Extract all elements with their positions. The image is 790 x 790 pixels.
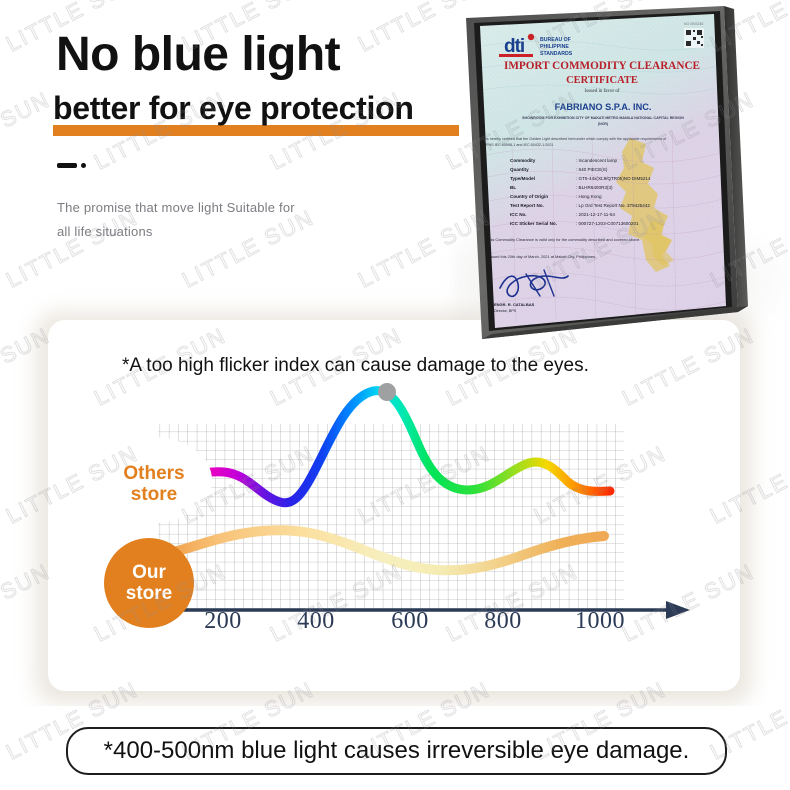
svg-text:: 000727-1203-C00713600201: : 000727-1203-C00713600201 xyxy=(576,221,639,226)
promise-line-1: The promise that move light Suitable for xyxy=(57,196,295,220)
promise-text: The promise that move light Suitable for… xyxy=(57,196,295,244)
svg-text:SHOWROOM FOR EXHIBITION CITY O: SHOWROOM FOR EXHIBITION CITY OF MAKATI M… xyxy=(522,116,684,120)
svg-text:: BLHR6400R3(3): : BLHR6400R3(3) xyxy=(576,185,613,190)
svg-text:: Lp Grd Test Report No. 37942: : Lp Grd Test Report No. 379425442 xyxy=(576,203,650,208)
bottom-caption: *400-500nm blue light causes irreversibl… xyxy=(66,727,727,775)
svg-text:NO 0003248: NO 0003248 xyxy=(684,22,703,26)
legend-others-line2: store xyxy=(110,484,198,505)
accent-underline-bar xyxy=(53,125,459,136)
legend-our-line2: store xyxy=(126,583,172,604)
x-tick-200: 200 xyxy=(204,608,242,635)
svg-text:Country of Origin: Country of Origin xyxy=(510,194,548,199)
page-subtitle: better for eye protection xyxy=(53,92,414,124)
svg-text:Issued this 20th day of March,: Issued this 20th day of March, 2021 at M… xyxy=(488,254,596,259)
cert-title-1: IMPORT COMMODITY CLEARANCE xyxy=(504,60,700,72)
decorative-dash-dot xyxy=(57,163,86,168)
svg-text:: 640 PIECE(S): : 640 PIECE(S) xyxy=(576,167,608,172)
legend-our-store: Our store xyxy=(104,538,194,628)
cert-signatory: ENGR. R. CATALBAS xyxy=(494,302,535,307)
cert-bureau-3: STANDARDS xyxy=(540,51,573,57)
legend-our-line1: Our xyxy=(132,562,166,583)
cert-company: FABRIANO S.P.A. INC. xyxy=(555,102,652,112)
svg-text:is hereby certified that the G: is hereby certified that the Golden Ligh… xyxy=(486,137,667,141)
chart-card: *A too high flicker index can cause dama… xyxy=(48,320,740,691)
page-title: No blue light xyxy=(56,31,340,79)
legend-others-line1: Others xyxy=(110,463,198,484)
cert-bureau-2: PHILIPPINE xyxy=(540,44,569,50)
dash-icon xyxy=(57,163,77,168)
svg-text:Type/Model: Type/Model xyxy=(510,176,535,181)
cert-signatory-title: Director, BPS xyxy=(494,309,517,313)
cert-title-2: CERTIFICATE xyxy=(566,75,638,86)
svg-text:: GT5-44x(XL9/QTR05)NO DIM5214: : GT5-44x(XL9/QTR05)NO DIM5214 xyxy=(576,176,651,181)
x-tick-1000: 1000 xyxy=(575,608,625,635)
promise-line-2: all life situations xyxy=(57,220,295,244)
svg-text:BL: BL xyxy=(510,185,516,190)
svg-text:ICC Sticker Serial No.: ICC Sticker Serial No. xyxy=(510,221,557,226)
chart-grid xyxy=(158,424,624,610)
dot-icon xyxy=(81,163,86,168)
certificate-svg: dti BUREAU OF PHILIPPINE STANDARDS NO 00… xyxy=(452,6,752,346)
svg-text:PNS IEC 60598-1 and IEC 60432-: PNS IEC 60598-1 and IEC 60432-1:2021 xyxy=(486,143,553,147)
legend-others-store: Others store xyxy=(110,463,198,506)
x-tick-400: 400 xyxy=(297,608,335,635)
svg-text:dti: dti xyxy=(504,36,524,57)
svg-text:: 2021-12-17-11-54: : 2021-12-17-11-54 xyxy=(576,212,615,217)
cert-issued-label: Issued in favor of xyxy=(584,89,619,94)
svg-text:: Incandescent lamp: : Incandescent lamp xyxy=(576,158,618,163)
svg-text:Test Report No.: Test Report No. xyxy=(510,203,544,208)
x-tick-800: 800 xyxy=(484,608,522,635)
subheadline-group: better for eye protection xyxy=(53,92,414,124)
svg-text:ICC No.: ICC No. xyxy=(510,212,527,217)
svg-text:(NCR): (NCR) xyxy=(598,122,609,126)
peak-marker xyxy=(378,383,396,401)
svg-text:: Hong Kong: : Hong Kong xyxy=(576,194,602,199)
certificate-photo: dti BUREAU OF PHILIPPINE STANDARDS NO 00… xyxy=(452,6,752,346)
promo-page: No blue light better for eye protection … xyxy=(0,0,790,790)
x-tick-600: 600 xyxy=(391,608,429,635)
svg-text:Commodity: Commodity xyxy=(510,158,536,163)
svg-text:This Commodity Clearance is va: This Commodity Clearance is valid only f… xyxy=(487,237,640,242)
cert-bureau-1: BUREAU OF xyxy=(540,37,571,43)
svg-text:Quantity: Quantity xyxy=(510,167,529,172)
